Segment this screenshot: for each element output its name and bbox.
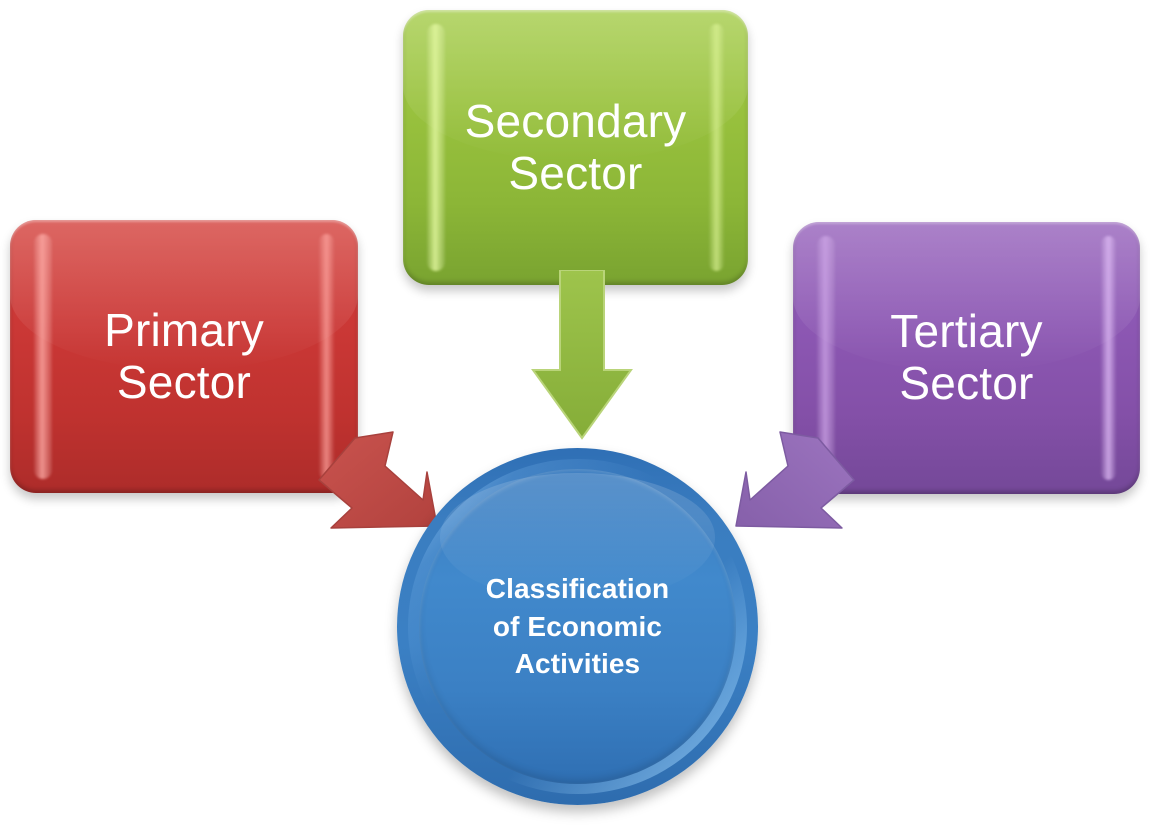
box-gloss-left-secondary bbox=[427, 24, 445, 272]
arrow-down-left-icon-tertiary-to-center bbox=[728, 428, 858, 548]
node-center-classification[interactable]: Classification of Economic Activities bbox=[397, 448, 758, 805]
node-secondary-sector-label: Secondary Sector bbox=[455, 96, 697, 199]
node-primary-sector[interactable]: Primary Sector bbox=[10, 220, 358, 493]
box-gloss-right-secondary bbox=[709, 24, 723, 272]
arrow-down-icon-secondary-to-center bbox=[527, 270, 637, 450]
node-primary-sector-label: Primary Sector bbox=[94, 305, 274, 408]
node-center-label: Classification of Economic Activities bbox=[422, 570, 732, 683]
node-secondary-sector[interactable]: Secondary Sector bbox=[403, 10, 748, 285]
box-gloss-right-tertiary bbox=[1101, 236, 1116, 481]
box-gloss-left-primary bbox=[34, 234, 52, 480]
node-tertiary-sector-label: Tertiary Sector bbox=[880, 306, 1052, 409]
diagram-canvas: Primary Sector Secondary Sector Tertiary… bbox=[0, 0, 1153, 827]
